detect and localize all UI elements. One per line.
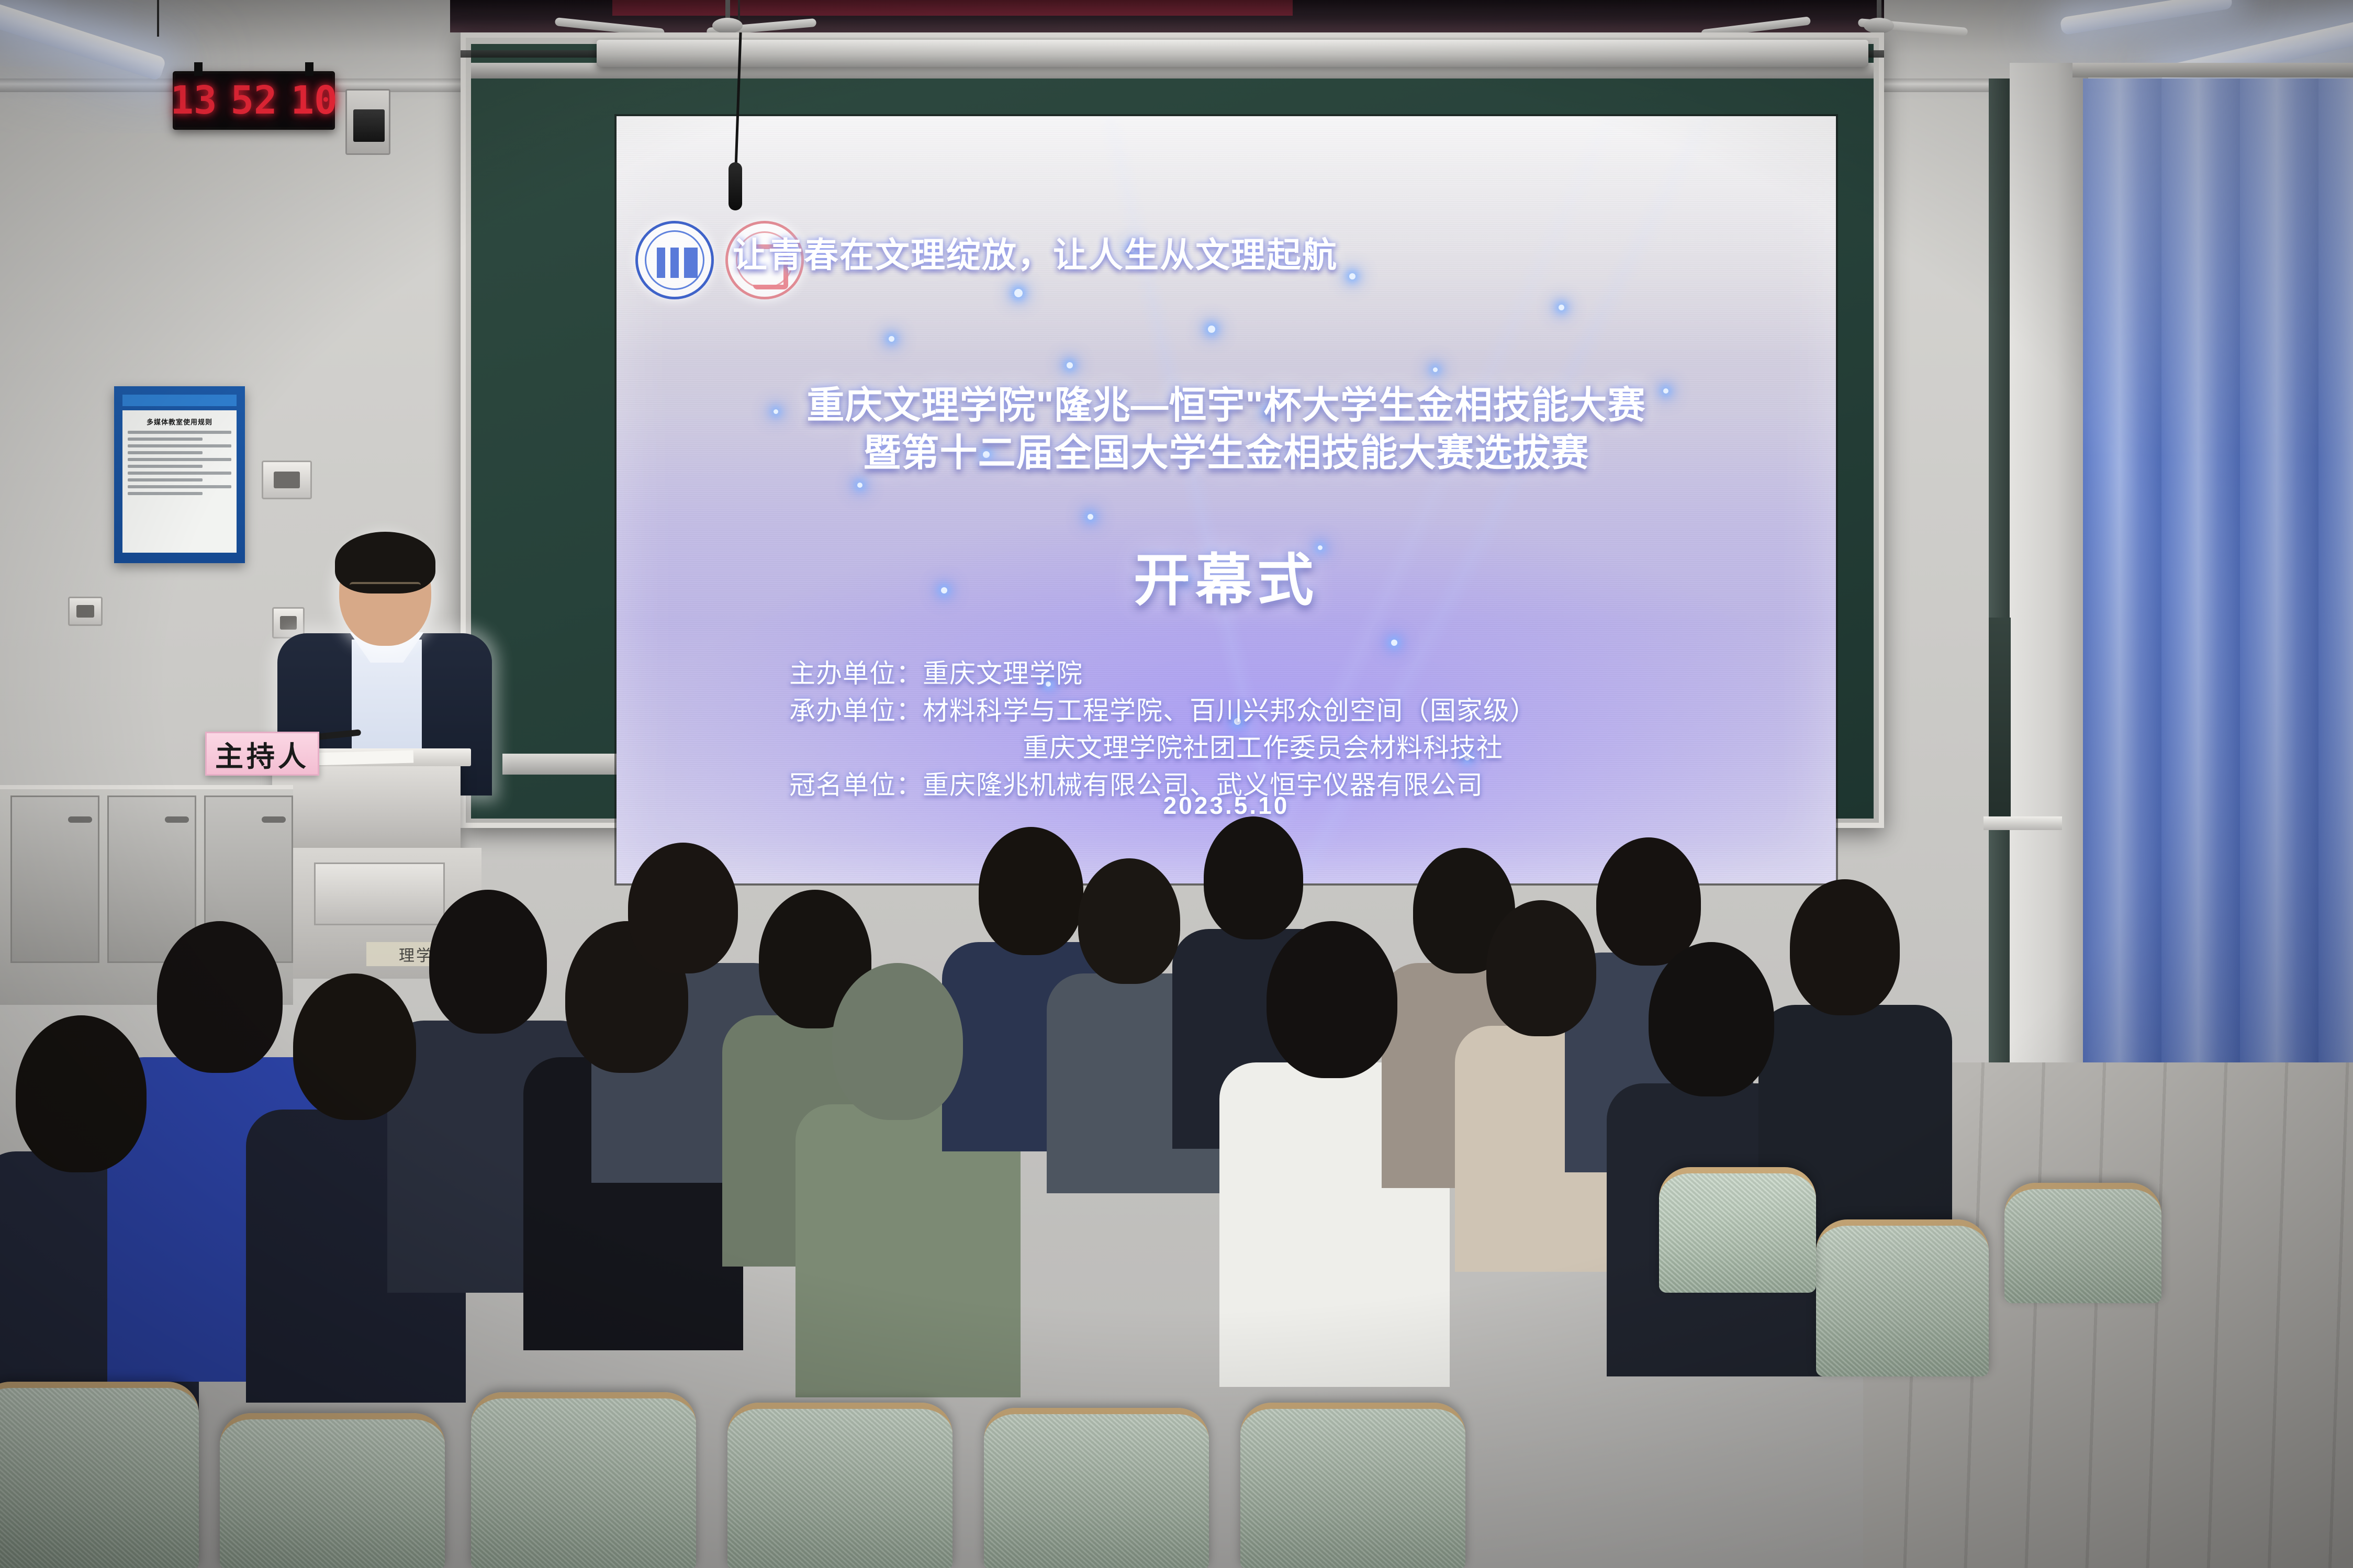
audience-member-head bbox=[979, 827, 1083, 955]
light-hanger bbox=[157, 0, 159, 37]
slide-credits-block: 主办单位：重庆文理学院 承办单位：材料科学与工程学院、百川兴邦众创空间（国家级）… bbox=[789, 655, 1679, 804]
host-nameplate-label: 主持人 bbox=[215, 733, 309, 775]
poster-text-line bbox=[128, 465, 203, 468]
poster-text-line bbox=[128, 478, 203, 481]
wall-power-socket[interactable] bbox=[262, 461, 312, 499]
curtain-shading bbox=[2083, 79, 2353, 1167]
poster-text-line bbox=[128, 431, 231, 434]
audience-member-head bbox=[628, 843, 738, 973]
auditorium-seat[interactable] bbox=[2004, 1183, 2161, 1303]
slide-star-icon bbox=[1208, 326, 1215, 333]
audience-member-head bbox=[1649, 942, 1774, 1096]
slide-star-icon bbox=[1014, 289, 1023, 297]
audience-member-head bbox=[1596, 837, 1701, 966]
slide-title-line-1: 重庆文理学院"隆兆—恒宇"杯大学生金相技能大赛 bbox=[617, 382, 1836, 430]
light-switch-panel[interactable] bbox=[345, 89, 390, 155]
classroom-rules-poster: 多媒体教室使用规则 bbox=[114, 386, 245, 563]
slide-star-icon bbox=[1433, 367, 1438, 372]
ceiling-fan bbox=[618, 0, 837, 37]
slide-title-block: 重庆文理学院"隆兆—恒宇"杯大学生金相技能大赛 暨第十二届全国大学生金相技能大赛… bbox=[617, 382, 1836, 477]
audience-member-head bbox=[832, 963, 963, 1120]
slide-star-icon bbox=[857, 483, 862, 488]
auditorium-seat[interactable] bbox=[0, 1382, 199, 1568]
curtain-rail bbox=[2072, 63, 2353, 77]
clock-seconds: 10 bbox=[291, 81, 338, 120]
slide-credit-club: 重庆文理学院社团工作委员会材料科技社 bbox=[789, 730, 1679, 767]
auditorium-seat[interactable] bbox=[1816, 1219, 1989, 1376]
slide-date: 2023.5.10 bbox=[617, 791, 1836, 820]
poster-text-line bbox=[128, 444, 231, 447]
door-frame bbox=[2010, 63, 2088, 1162]
poster-text-line bbox=[128, 492, 203, 495]
cabinet-handle[interactable] bbox=[262, 816, 286, 823]
audience-member-head bbox=[429, 890, 547, 1034]
audience-member-head bbox=[1790, 879, 1900, 1015]
fan-hub bbox=[1864, 18, 1894, 33]
auditorium-seat[interactable] bbox=[984, 1408, 1209, 1568]
projection-screen: 让青春在文理绽放，让人生从文理起航 重庆文理学院"隆兆—恒宇"杯大学生金相技能大… bbox=[617, 116, 1836, 883]
auditorium-seat[interactable] bbox=[471, 1392, 696, 1568]
window-sill bbox=[1984, 816, 2062, 830]
slide-credit-host: 主办单位：重庆文理学院 bbox=[789, 655, 1679, 692]
slide-star-icon bbox=[889, 336, 894, 342]
led-wall-clock: 13 52 10 bbox=[173, 71, 335, 130]
poster-text-line bbox=[128, 485, 231, 488]
cabinet-handle[interactable] bbox=[68, 816, 92, 823]
audience-member-head bbox=[293, 973, 416, 1120]
podium-papers bbox=[314, 751, 414, 766]
clock-minutes: 52 bbox=[230, 81, 277, 120]
slide-star-icon bbox=[1559, 305, 1564, 310]
poster-body: 多媒体教室使用规则 bbox=[122, 410, 237, 553]
poster-text-line bbox=[128, 438, 203, 441]
projector-screen-roller bbox=[597, 40, 1868, 67]
poster-title: 多媒体教室使用规则 bbox=[128, 417, 231, 427]
audience-member-head bbox=[16, 1015, 147, 1172]
clock-hours: 13 bbox=[170, 81, 217, 120]
socket-slot-icon bbox=[274, 472, 300, 489]
slide-star-icon bbox=[1391, 640, 1397, 646]
poster-text-line bbox=[128, 472, 231, 475]
poster-text-line bbox=[128, 451, 203, 454]
lecture-hall-photo: 让青春在文理绽放，让人生从文理起航 重庆文理学院"隆兆—恒宇"杯大学生金相技能大… bbox=[0, 0, 2353, 1568]
switch-rocker-icon[interactable] bbox=[353, 109, 385, 142]
window-glass bbox=[1989, 618, 2011, 816]
audience-member-head bbox=[1078, 858, 1180, 984]
auditorium-seat[interactable] bbox=[727, 1403, 953, 1568]
audience-member-head bbox=[1486, 900, 1596, 1036]
audience-member-head bbox=[1267, 921, 1397, 1078]
slide-headline: 开幕式 bbox=[617, 535, 1836, 617]
auditorium-seat[interactable] bbox=[1240, 1403, 1465, 1568]
auditorium-seat[interactable] bbox=[1659, 1167, 1816, 1293]
wall-power-socket[interactable] bbox=[68, 597, 103, 626]
host-nameplate: 主持人 bbox=[205, 732, 319, 776]
university-emblem-icon bbox=[635, 221, 714, 299]
audience-member-head bbox=[157, 921, 283, 1073]
slide-star-icon bbox=[1067, 362, 1073, 368]
fan-hub bbox=[712, 18, 743, 33]
poster-text-line bbox=[128, 458, 231, 461]
speaker-glasses-icon bbox=[350, 582, 421, 597]
socket-slot-icon bbox=[76, 605, 94, 618]
socket-slot-icon bbox=[280, 616, 296, 630]
cabinet-handle[interactable] bbox=[165, 816, 189, 823]
audience-member-head bbox=[1204, 816, 1303, 939]
poster-header-bar bbox=[122, 395, 237, 406]
slide-tagline: 让青春在文理绽放，让人生从文理起航 bbox=[733, 227, 1727, 277]
desk-equipment-box bbox=[314, 863, 445, 925]
slide-credit-organizer: 承办单位：材料科学与工程学院、百川兴邦众创空间（国家级） bbox=[789, 692, 1679, 730]
slide-star-icon bbox=[1088, 514, 1093, 520]
slide-title-line-2: 暨第十二届全国大学生金相技能大赛选拔赛 bbox=[617, 430, 1836, 477]
ceiling-fan bbox=[1769, 0, 1989, 37]
hanging-microphone-icon bbox=[729, 162, 742, 210]
auditorium-seat[interactable] bbox=[220, 1413, 445, 1568]
